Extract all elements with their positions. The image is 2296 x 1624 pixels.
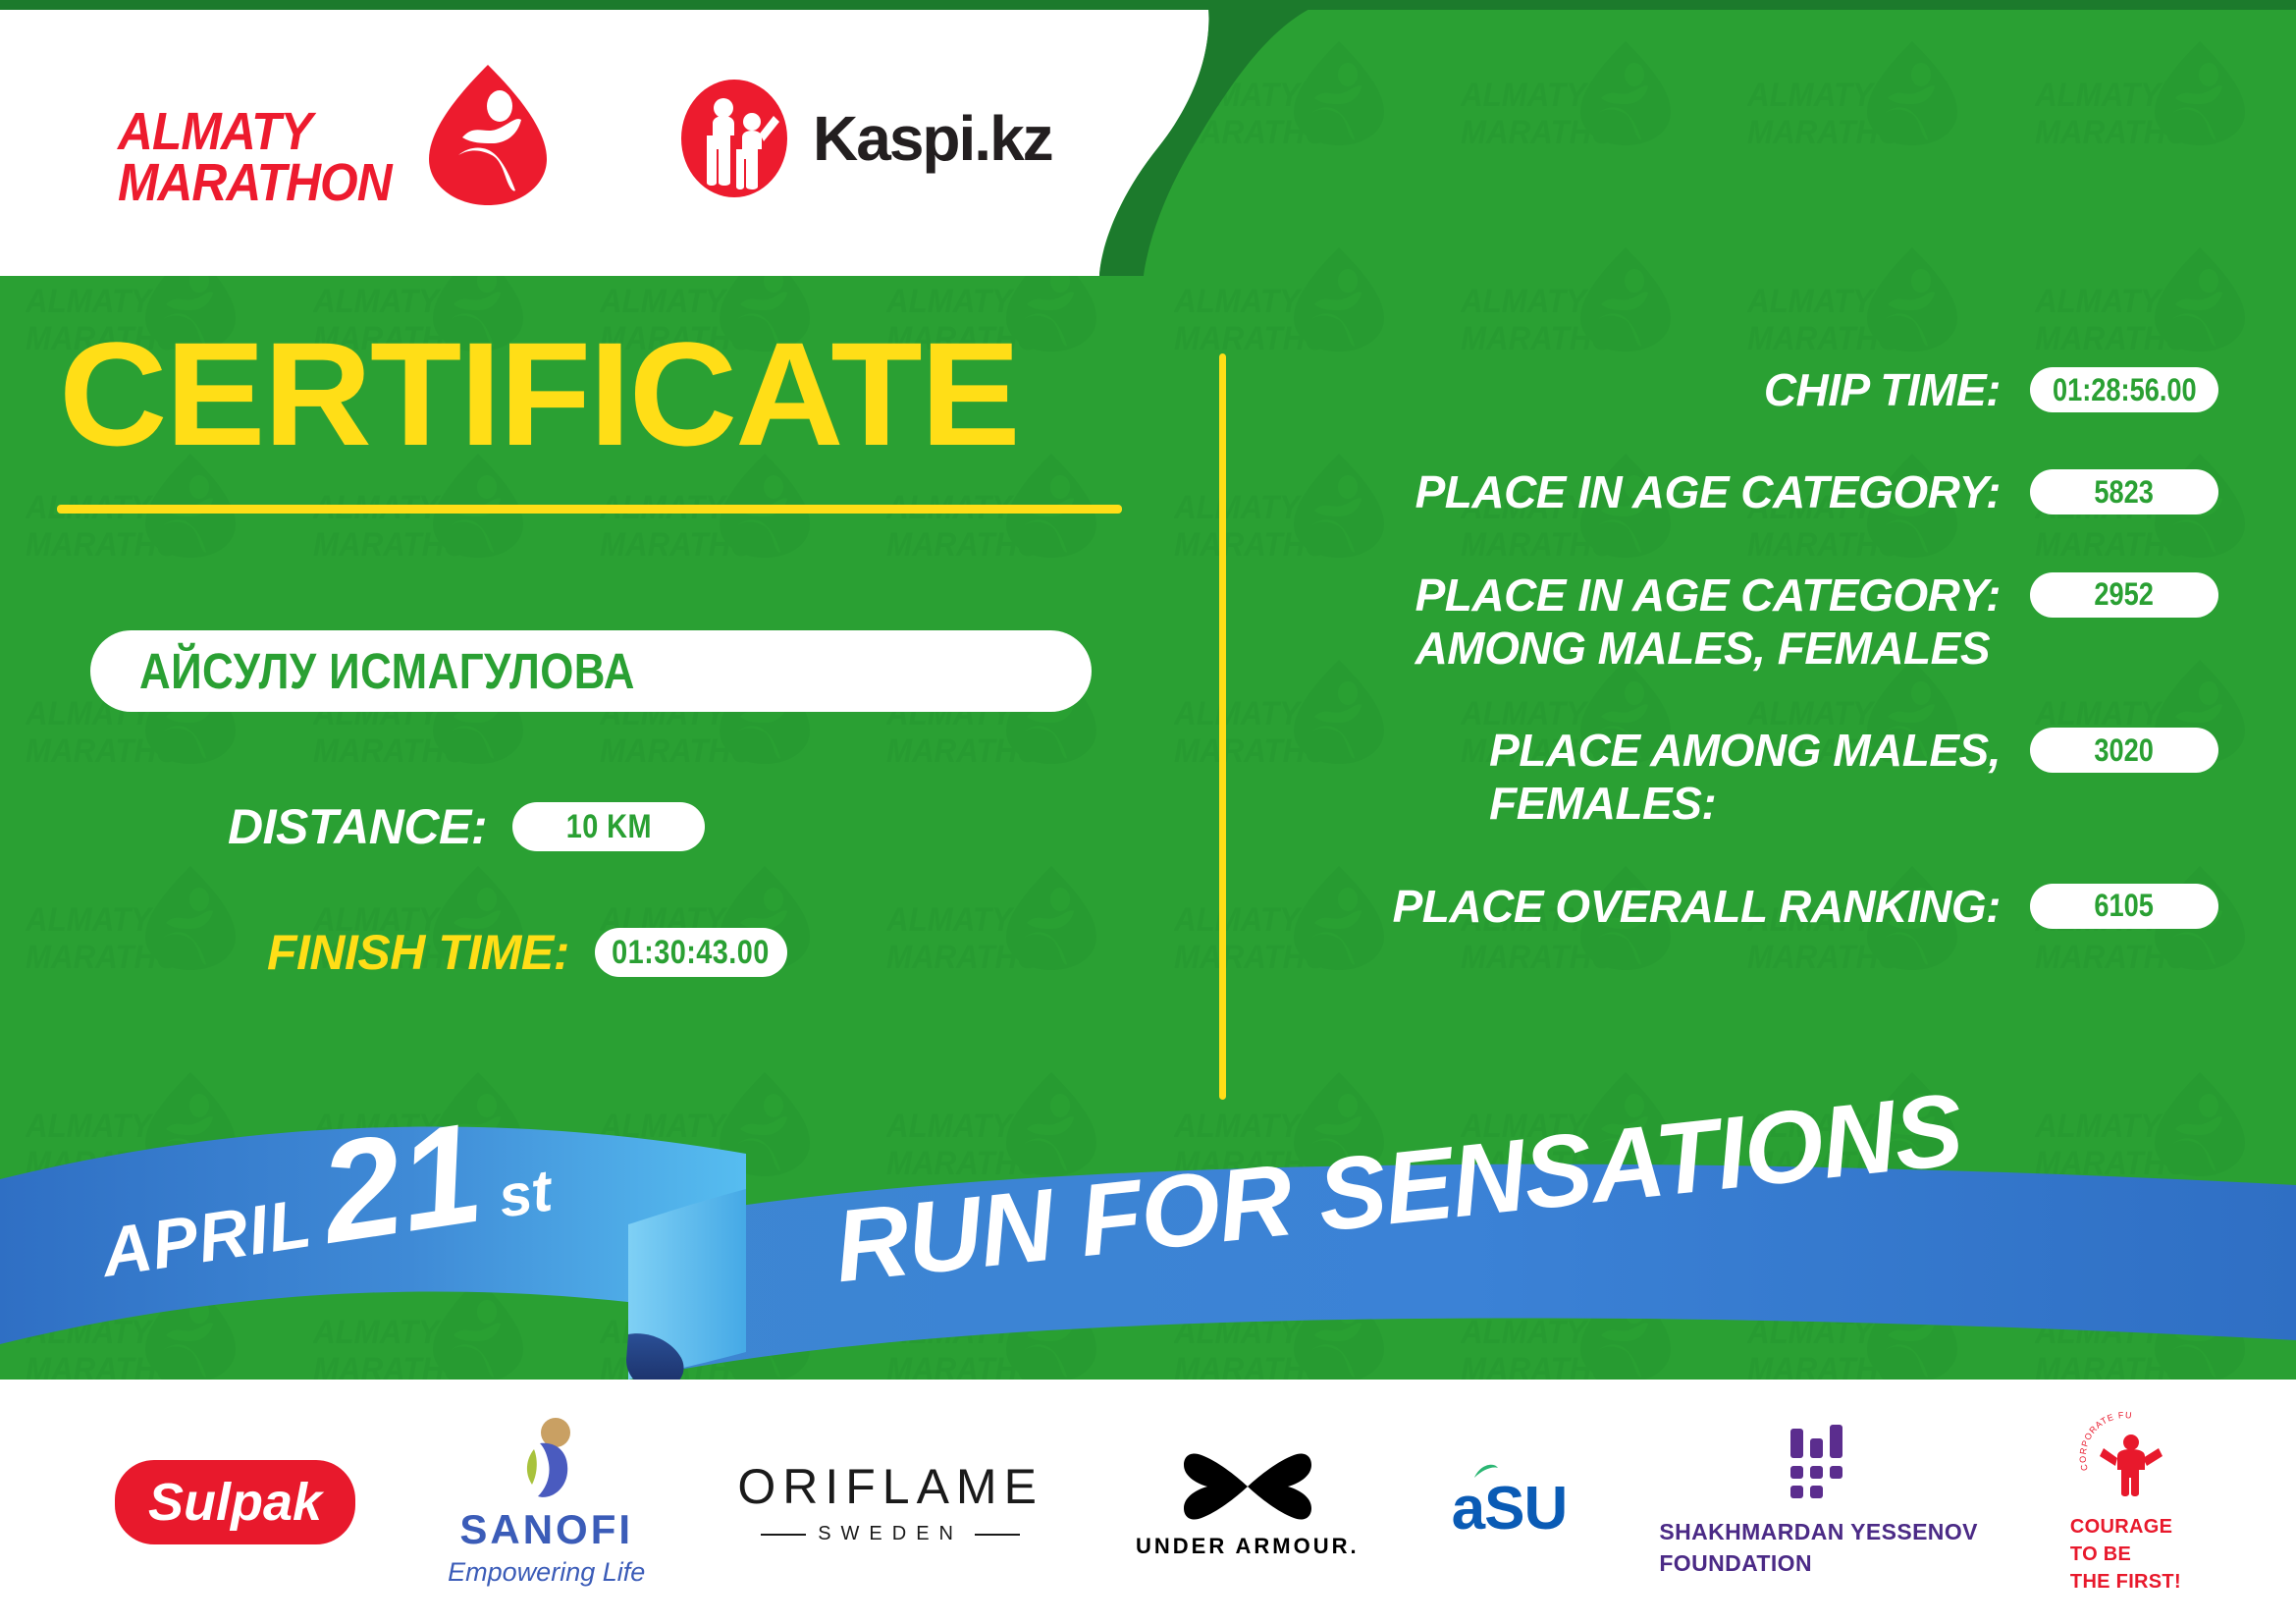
sanofi-mark-icon [505,1416,589,1506]
sponsor-oriflame: ORIFLAME SWEDEN [737,1458,1043,1545]
top-green-strip [0,0,2296,10]
oriflame-sub-label: SWEDEN [818,1523,963,1545]
kaspi-label: Kaspi.kz [813,102,1052,175]
participant-name: АЙСУЛУ ИСМАГУЛОВА [139,642,635,700]
stat-place-among-gender: PLACE AMONG MALES, FEMALES: 3020 [1276,724,2218,831]
sanofi-label: SANOFI [459,1506,633,1553]
kaspi-people-icon [677,77,791,200]
stat-place-overall-value: 6105 [2095,888,2155,924]
stat-place-overall: PLACE OVERALL RANKING: 6105 [1276,880,2218,933]
stat-place-age-category-gender-value-pill: 2952 [2030,572,2218,618]
stat-place-among-gender-label: PLACE AMONG MALES, FEMALES: [1489,724,2001,831]
sponsor-sulpak: Sulpak [115,1460,355,1544]
svg-text:ALMATY: ALMATY [1461,76,1589,114]
stat-finish-time-label: FINISH TIME: [267,924,569,981]
ribbon-day: 21 [313,1108,489,1258]
stat-chip-time-value: 01:28:56.00 [2053,372,2197,408]
sponsor-asu: aSU [1452,1460,1568,1543]
sponsor-footer: Sulpak SANOFI Empowering Life ORIFLAME S… [0,1380,2296,1624]
runner-drop-icon [423,61,553,208]
svg-text:ALMATY: ALMATY [26,900,154,939]
courage-label-line1: COURAGE [2070,1513,2181,1541]
participant-name-field: АЙСУЛУ ИСМАГУЛОВА [90,630,1092,712]
stat-place-age-category-gender-label: PLACE IN AGE CATEGORY: AMONG MALES, FEMA… [1415,568,2001,676]
under-armour-icon [1174,1445,1321,1528]
watermark-tile: ALMATYMARATHON [1747,236,1983,383]
stat-chip-time: CHIP TIME: 01:28:56.00 [1276,363,2218,416]
courage-label-line3: THE FIRST! [2070,1568,2181,1596]
almaty-logo-line2: MARATHON [118,158,392,208]
stat-distance-value: 10 KM [565,808,651,846]
sponsor-yessenov-foundation: SHAKHMARDAN YESSENOV FOUNDATION [1659,1425,1978,1578]
stat-chip-time-label: CHIP TIME: [1764,363,2001,416]
stat-place-age-category: PLACE IN AGE CATEGORY: 5823 [1276,465,2218,518]
stat-place-among-gender-value-pill: 3020 [2030,728,2218,773]
stat-distance-label: DISTANCE: [228,798,487,855]
asu-label: aSU [1452,1474,1568,1543]
right-column: CHIP TIME: 01:28:56.00 PLACE IN AGE CATE… [1276,363,2218,982]
watermark-tile: ALMATYMARATHON [2035,29,2270,177]
kaspi-logo: Kaspi.kz [677,77,1052,200]
svg-text:ALMATY: ALMATY [1747,76,1876,114]
oriflame-label: ORIFLAME [737,1458,1043,1515]
ribbon-day-suffix: st [494,1157,556,1231]
almaty-marathon-logo: ALMATY MARATHON [118,61,553,208]
stat-place-overall-value-pill: 6105 [2030,884,2218,929]
stat-finish-time: FINISH TIME: 01:30:43.00 [267,924,787,981]
stat-place-overall-label: PLACE OVERALL RANKING: [1393,880,2001,933]
watermark-tile: ALMATYMARATHON [886,854,1122,1001]
title-divider [57,505,1122,514]
watermark-tile: ALMATYMARATHON [1461,236,1696,383]
stat-place-age-category-gender: PLACE IN AGE CATEGORY: AMONG MALES, FEMA… [1276,568,2218,676]
sponsor-under-armour: UNDER ARMOUR. [1136,1445,1360,1559]
stat-distance: DISTANCE: 10 KM [228,798,705,855]
courage-child-icon: CORPORATE FUND [2078,1409,2172,1503]
stat-chip-time-value-pill: 01:28:56.00 [2030,367,2218,412]
yessenov-bars-icon [1789,1425,1849,1499]
sponsor-sanofi: SANOFI Empowering Life [448,1416,645,1588]
courage-label-line2: TO BE [2070,1541,2181,1568]
stat-place-among-gender-value: 3020 [2095,732,2155,769]
svg-text:ALMATY: ALMATY [1747,282,1876,320]
stat-finish-time-value-pill: 01:30:43.00 [595,928,787,977]
stat-place-age-category-gender-value: 2952 [2095,576,2155,613]
under-armour-label: UNDER ARMOUR. [1136,1534,1360,1559]
sanofi-tagline: Empowering Life [448,1557,645,1588]
watermark-tile: ALMATYMARATHON [1747,29,1983,177]
svg-text:ALMATY: ALMATY [1461,282,1589,320]
stat-finish-time-value: 01:30:43.00 [613,934,771,972]
certificate-page: ALMATYMARATHONALMATYMARATHONALMATYMARATH… [0,0,2296,1624]
stat-place-age-category-value-pill: 5823 [2030,469,2218,514]
sulpak-label: Sulpak [115,1460,355,1544]
page-title: CERTIFICATE [59,320,1019,467]
stat-place-age-category-label: PLACE IN AGE CATEGORY: [1415,465,2001,518]
stat-distance-value-pill: 10 KM [512,802,705,851]
sponsor-courage-fund: CORPORATE FUND COURAGE TO BE THE FIRST! [2070,1409,2181,1596]
svg-text:ALMATY: ALMATY [2035,76,2163,114]
almaty-logo-line1: ALMATY [118,107,392,157]
yessenov-label-line2: FOUNDATION [1659,1548,1978,1579]
watermark-tile: ALMATYMARATHON [26,854,261,1001]
column-divider [1219,353,1226,1100]
watermark-tile: ALMATYMARATHON [1461,29,1696,177]
yessenov-label-line1: SHAKHMARDAN YESSENOV [1659,1517,1978,1547]
stat-place-age-category-value: 5823 [2095,474,2155,511]
svg-text:ALMATY: ALMATY [886,900,1015,939]
watermark-tile: ALMATYMARATHON [2035,236,2270,383]
svg-text:ALMATY: ALMATY [2035,282,2163,320]
